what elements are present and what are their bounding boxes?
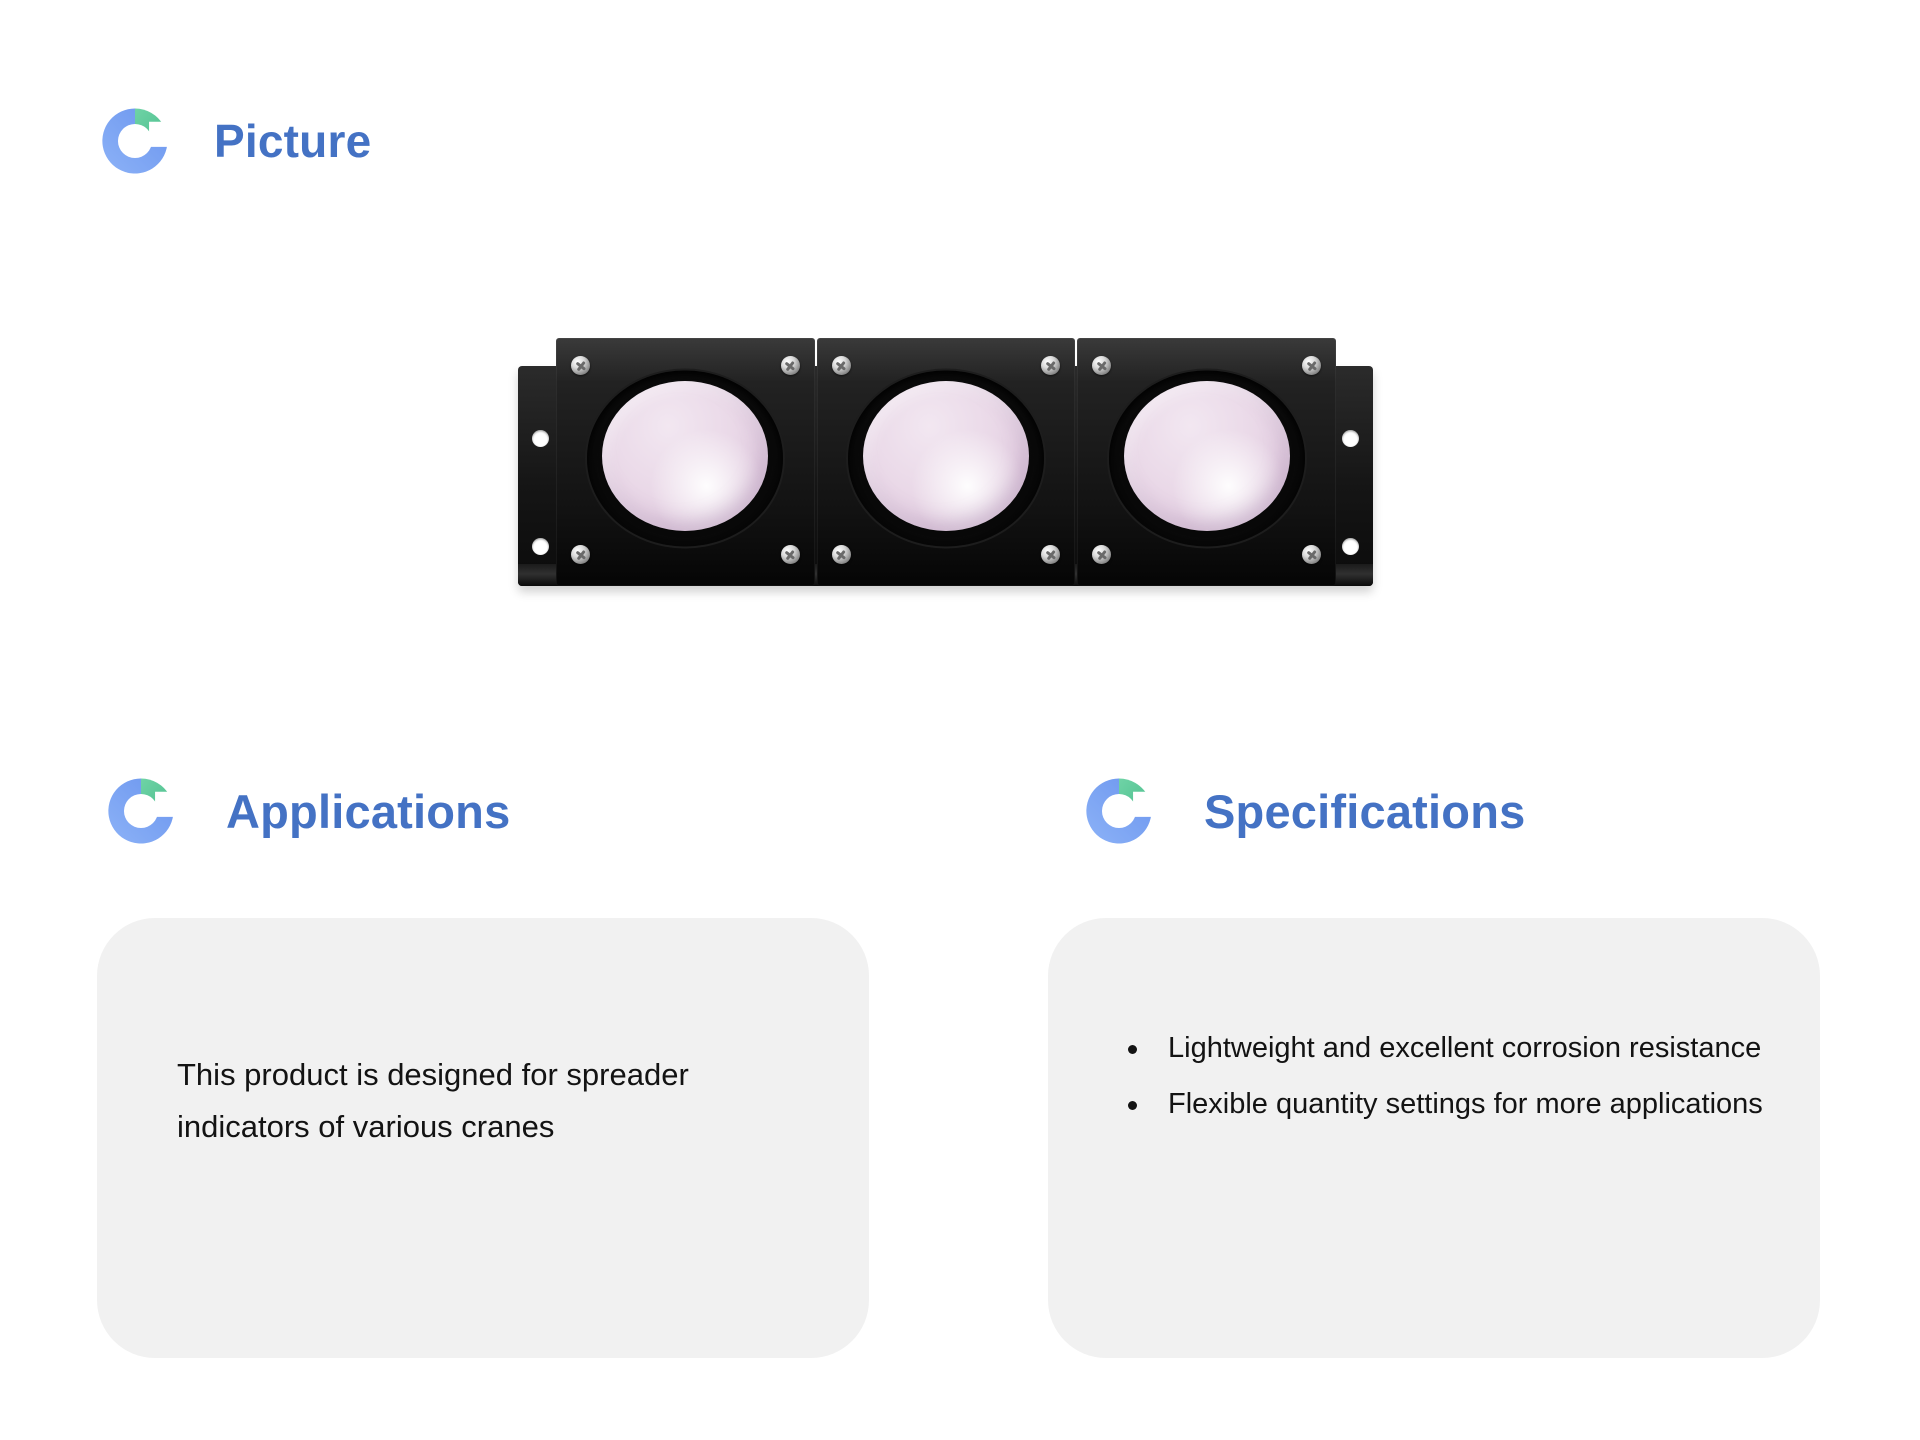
- screw-icon: [1302, 356, 1321, 375]
- specification-bullet-item: Lightweight and excellent corrosion resi…: [1126, 1020, 1826, 1076]
- slide-canvas: Picture: [0, 0, 1920, 1440]
- screw-icon: [832, 545, 851, 564]
- screw-icon: [1092, 545, 1111, 564]
- section-title-applications: Applications: [226, 788, 510, 835]
- lamp-dome: [602, 381, 768, 531]
- screw-icon: [832, 356, 851, 375]
- lamp-module: [556, 338, 815, 586]
- section-title-specifications: Specifications: [1204, 788, 1525, 835]
- lamp-dome: [1124, 381, 1290, 531]
- applications-card: This product is designed for spreader in…: [97, 918, 869, 1358]
- product-image: [500, 320, 1400, 620]
- screw-icon: [1302, 545, 1321, 564]
- screw-icon: [781, 545, 800, 564]
- specification-bullet-item: Flexible quantity settings for more appl…: [1126, 1076, 1826, 1132]
- section-title-picture: Picture: [214, 118, 371, 164]
- applications-paragraph: This product is designed for spreader in…: [177, 1049, 777, 1153]
- mount-hole: [1342, 430, 1359, 447]
- mount-hole: [532, 538, 549, 555]
- lamp-module: [817, 338, 1076, 586]
- bullet-dot-icon: [1128, 1045, 1137, 1054]
- screw-icon: [571, 356, 590, 375]
- c-logo-icon: [1082, 774, 1156, 848]
- specification-bullet-text: Flexible quantity settings for more appl…: [1168, 1088, 1763, 1120]
- screw-icon: [571, 545, 590, 564]
- section-heading-specifications: Specifications: [1082, 774, 1525, 848]
- lamp-bar-device: [518, 338, 1373, 600]
- lamp-dome: [863, 381, 1029, 531]
- mount-hole: [532, 430, 549, 447]
- specifications-card: Lightweight and excellent corrosion resi…: [1048, 918, 1820, 1358]
- mount-hole: [1342, 538, 1359, 555]
- lamp-module: [1077, 338, 1336, 586]
- specifications-bullet-list: Lightweight and excellent corrosion resi…: [1070, 1020, 1826, 1132]
- screw-icon: [1041, 545, 1060, 564]
- section-heading-picture: Picture: [98, 104, 371, 178]
- screw-icon: [1092, 356, 1111, 375]
- c-logo-icon: [98, 104, 172, 178]
- c-logo-icon: [104, 774, 178, 848]
- lamp-module-group: [556, 338, 1336, 586]
- bullet-dot-icon: [1128, 1101, 1137, 1110]
- section-heading-applications: Applications: [104, 774, 510, 848]
- specification-bullet-text: Lightweight and excellent corrosion resi…: [1168, 1032, 1761, 1064]
- screw-icon: [781, 356, 800, 375]
- screw-icon: [1041, 356, 1060, 375]
